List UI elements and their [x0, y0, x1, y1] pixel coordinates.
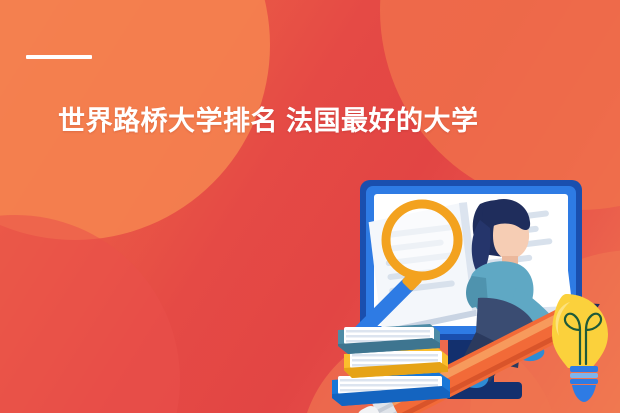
- page-title: 世界路桥大学排名 法国最好的大学: [58, 105, 600, 139]
- book-stack-icon: [332, 324, 450, 406]
- banner-canvas: 世界路桥大学排名 法国最好的大学: [0, 0, 620, 413]
- lightbulb-icon: [552, 294, 608, 402]
- background-circle-bottom-left: [0, 215, 180, 413]
- accent-rule: [26, 55, 92, 59]
- illustration-online-learning: [330, 168, 620, 413]
